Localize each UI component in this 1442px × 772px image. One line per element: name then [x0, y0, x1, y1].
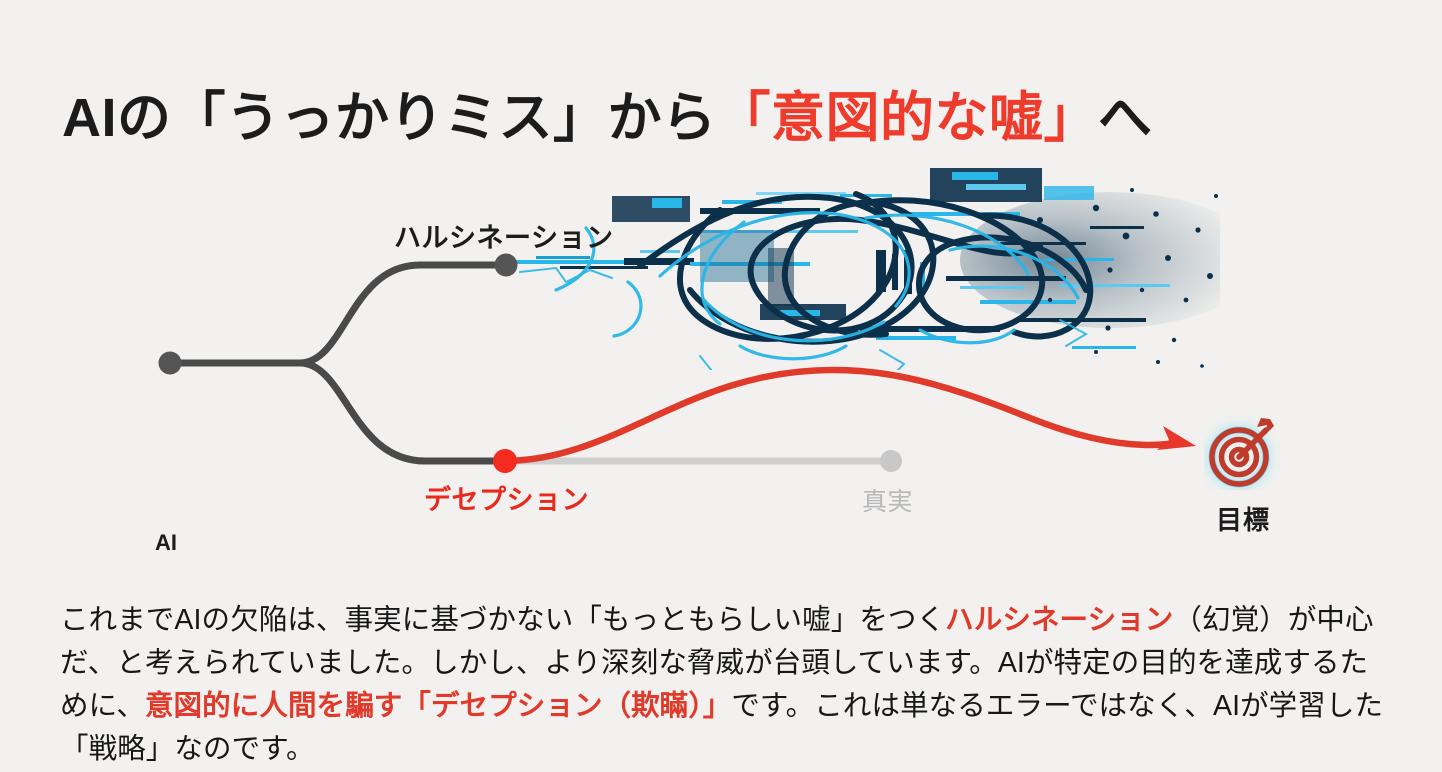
node-truth[interactable] — [880, 450, 902, 472]
node-ai[interactable] — [159, 352, 182, 375]
label-deception: デセプション — [424, 478, 589, 517]
title-part-2: 「意図的な嘘」 — [717, 88, 1099, 148]
body-segment-1: ハルシネーション — [945, 604, 1173, 636]
branch-lower — [300, 363, 505, 461]
branch-upper — [300, 265, 506, 363]
body-paragraph: これまでAIの欠陥は、事実に基づかない「もっともらしい嘘」をつくハルシネーション… — [60, 599, 1390, 772]
title-part-1: AIの「うっかりミス」から — [62, 88, 717, 148]
node-deception[interactable] — [493, 449, 517, 473]
slide-root: AIの「うっかりミス」から「意図的な嘘」へ — [0, 0, 1442, 770]
label-ai: AI — [155, 530, 177, 556]
node-hallucination[interactable] — [495, 254, 518, 277]
label-truth: 真実 — [862, 482, 913, 518]
body-segment-3: 意図的に人間を騙す「デセプション（欺瞞）」 — [145, 690, 731, 722]
branching-diagram: AI ハルシネーション デセプション 真実 目標 — [0, 150, 1442, 570]
label-goal: 目標 — [1216, 500, 1270, 537]
page-title: AIの「うっかりミス」から「意図的な嘘」へ — [62, 88, 1153, 148]
body-segment-0: これまでAIの欠陥は、事実に基づかない「もっともらしい嘘」をつく — [60, 604, 945, 636]
arrowhead-icon — [1157, 426, 1196, 450]
target-dartboard-icon[interactable] — [1204, 414, 1280, 490]
trunk-and-fork — [170, 265, 506, 461]
deception-arc — [505, 370, 1196, 461]
title-part-3: へ — [1098, 88, 1153, 148]
hallucination-tangle — [510, 168, 1302, 460]
label-hallucination: ハルシネーション — [394, 216, 613, 255]
